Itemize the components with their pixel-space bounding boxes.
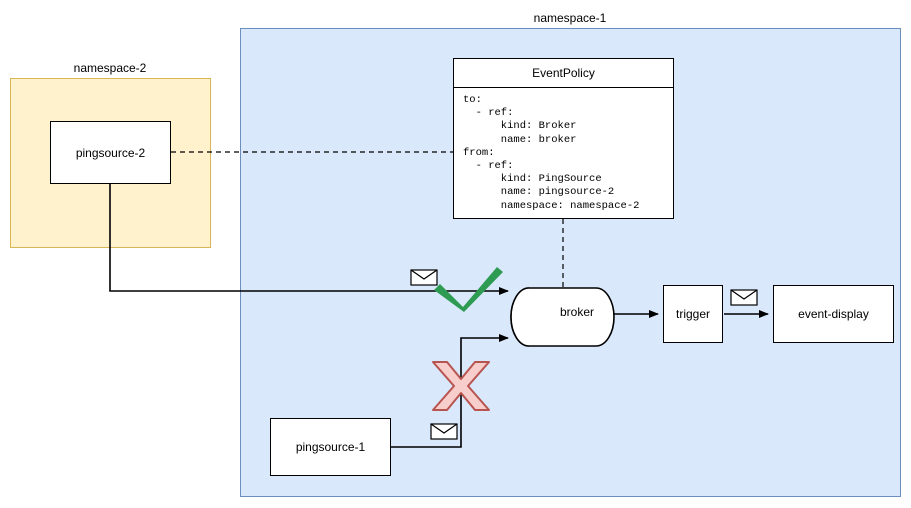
node-pingsource-1-label: pingsource-1 [296, 440, 365, 454]
diagram-canvas: namespace-2 namespace-1 [0, 0, 911, 508]
node-pingsource-2-label: pingsource-2 [76, 146, 145, 160]
namespace-2-label: namespace-2 [10, 61, 210, 75]
node-pingsource-1[interactable]: pingsource-1 [270, 418, 391, 476]
event-policy-spec: to: - ref: kind: Broker name: broker fro… [454, 88, 673, 213]
node-broker-label: broker [540, 305, 614, 319]
event-policy-title: EventPolicy [454, 59, 673, 88]
node-trigger[interactable]: trigger [663, 285, 723, 343]
node-event-display-label: event-display [798, 307, 869, 321]
node-pingsource-2[interactable]: pingsource-2 [50, 121, 171, 184]
event-policy-card[interactable]: EventPolicy to: - ref: kind: Broker name… [453, 58, 674, 219]
node-event-display[interactable]: event-display [773, 285, 894, 343]
namespace-1-label: namespace-1 [470, 11, 670, 25]
node-trigger-label: trigger [676, 307, 710, 321]
